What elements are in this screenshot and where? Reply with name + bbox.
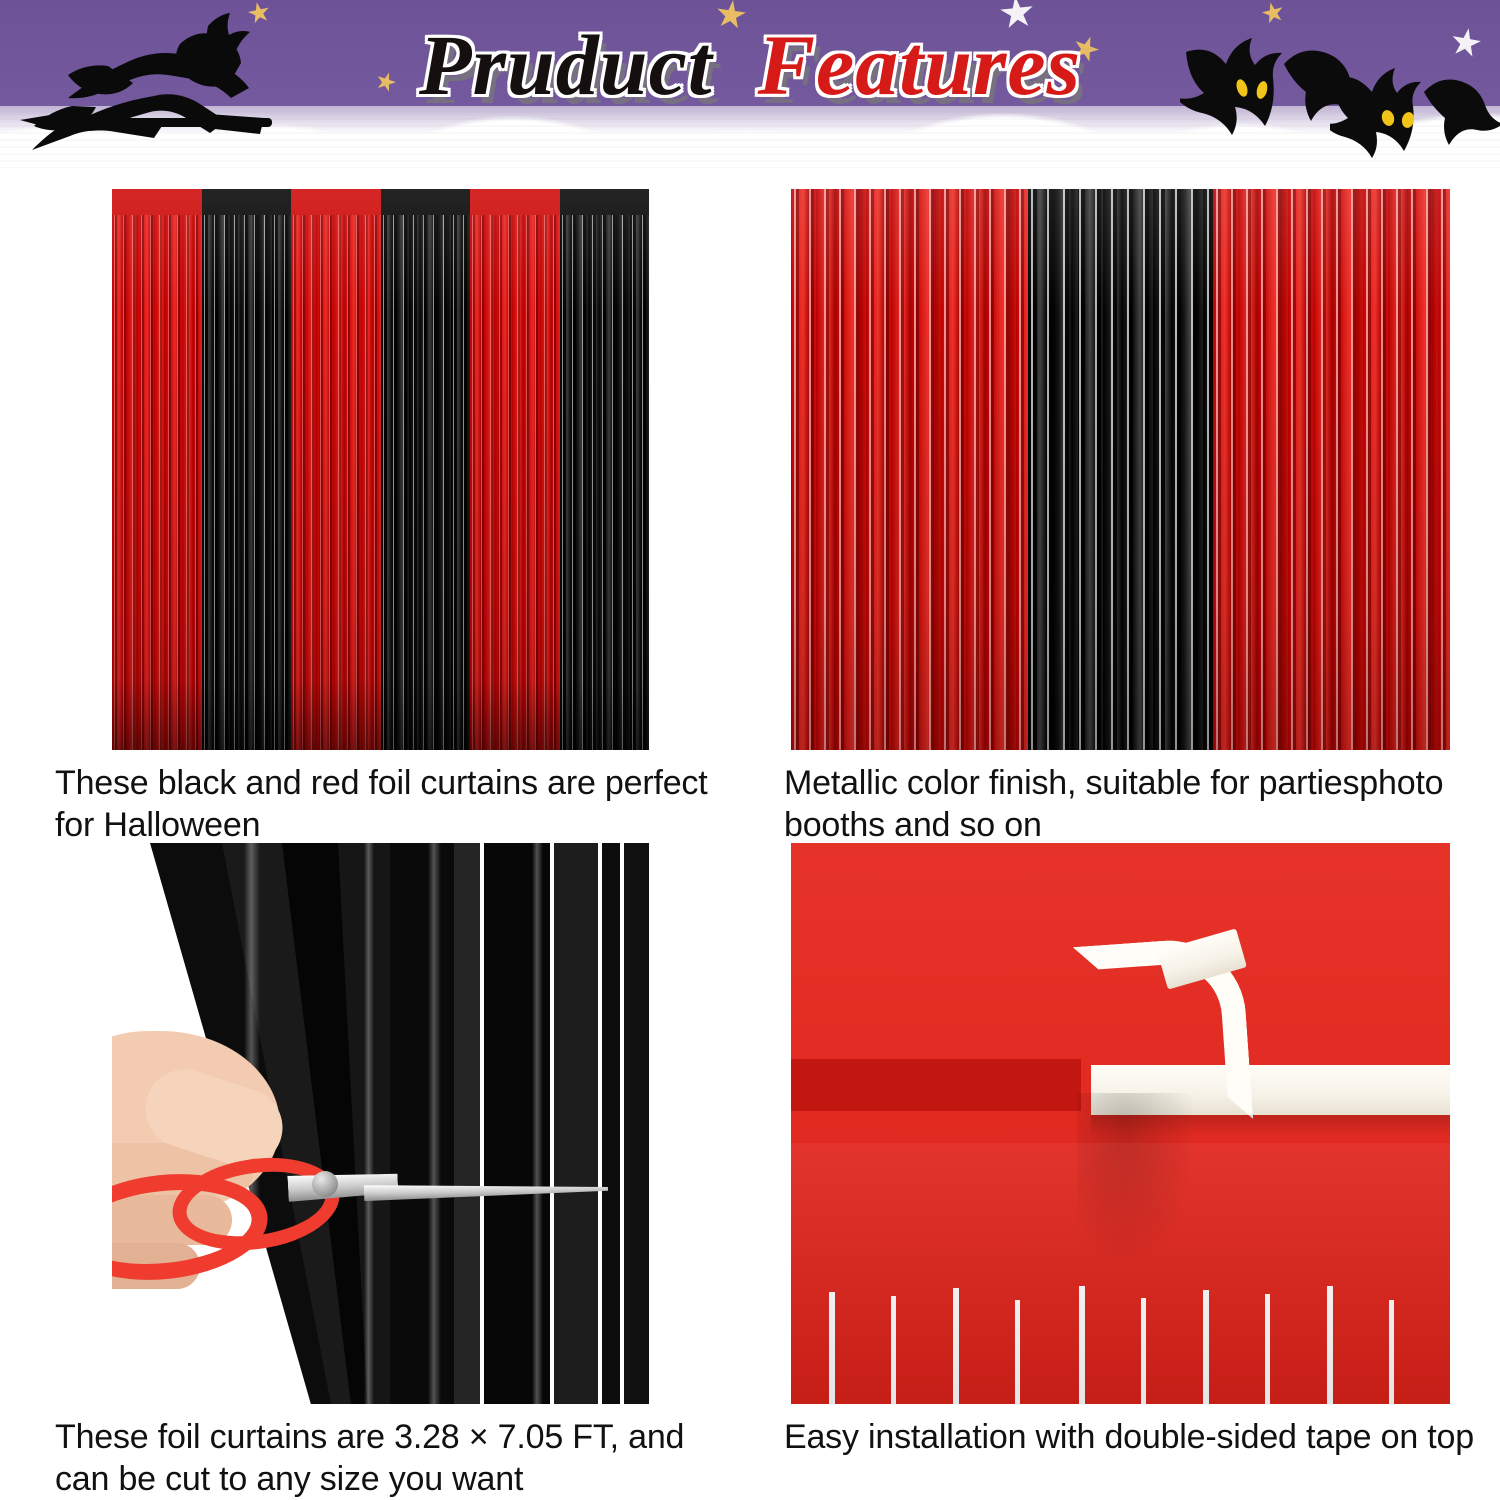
page-title-part2: Features xyxy=(758,17,1081,113)
feature-caption-foil-curtain-panels: These black and red foil curtains are pe… xyxy=(55,762,745,846)
black-foil-strand xyxy=(390,843,454,1404)
scissors-pivot-screw xyxy=(312,1171,338,1197)
black-foil-strand xyxy=(454,843,480,1404)
foil-strip-black xyxy=(202,189,292,750)
page-title: Pruduct Features xyxy=(0,22,1500,108)
foil-strip-red xyxy=(112,189,202,750)
feature-image-foil-curtain-panels xyxy=(112,189,649,750)
header-banner: Pruduct Features xyxy=(0,0,1500,168)
foil-strip-red xyxy=(291,189,381,750)
black-foil-strand xyxy=(624,843,649,1404)
foil-strip-black xyxy=(381,189,471,750)
feature-image-double-sided-tape xyxy=(791,843,1450,1404)
foil-strip-red xyxy=(470,189,560,750)
foil-band-red xyxy=(791,189,1028,750)
red-foil-header-band xyxy=(791,1059,1081,1111)
feature-caption-cuttable-to-size: These foil curtains are 3.28 × 7.05 FT, … xyxy=(55,1416,745,1500)
black-foil-strand xyxy=(602,843,620,1404)
feature-caption-metallic-finish-closeup: Metallic color finish, suitable for part… xyxy=(784,762,1484,846)
foil-band-black xyxy=(1028,189,1213,750)
feature-grid: These black and red foil curtains are pe… xyxy=(0,168,1500,1491)
feature-caption-double-sided-tape: Easy installation with double-sided tape… xyxy=(784,1416,1494,1458)
foil-strip-black xyxy=(560,189,650,750)
black-foil-strand xyxy=(554,843,598,1404)
red-foil-sheen xyxy=(791,1143,1450,1404)
foil-band-red xyxy=(1213,189,1450,750)
feature-image-cuttable-to-size xyxy=(112,843,649,1404)
page-title-part1: Pruduct xyxy=(419,17,713,113)
feature-image-metallic-finish-closeup xyxy=(791,189,1450,750)
